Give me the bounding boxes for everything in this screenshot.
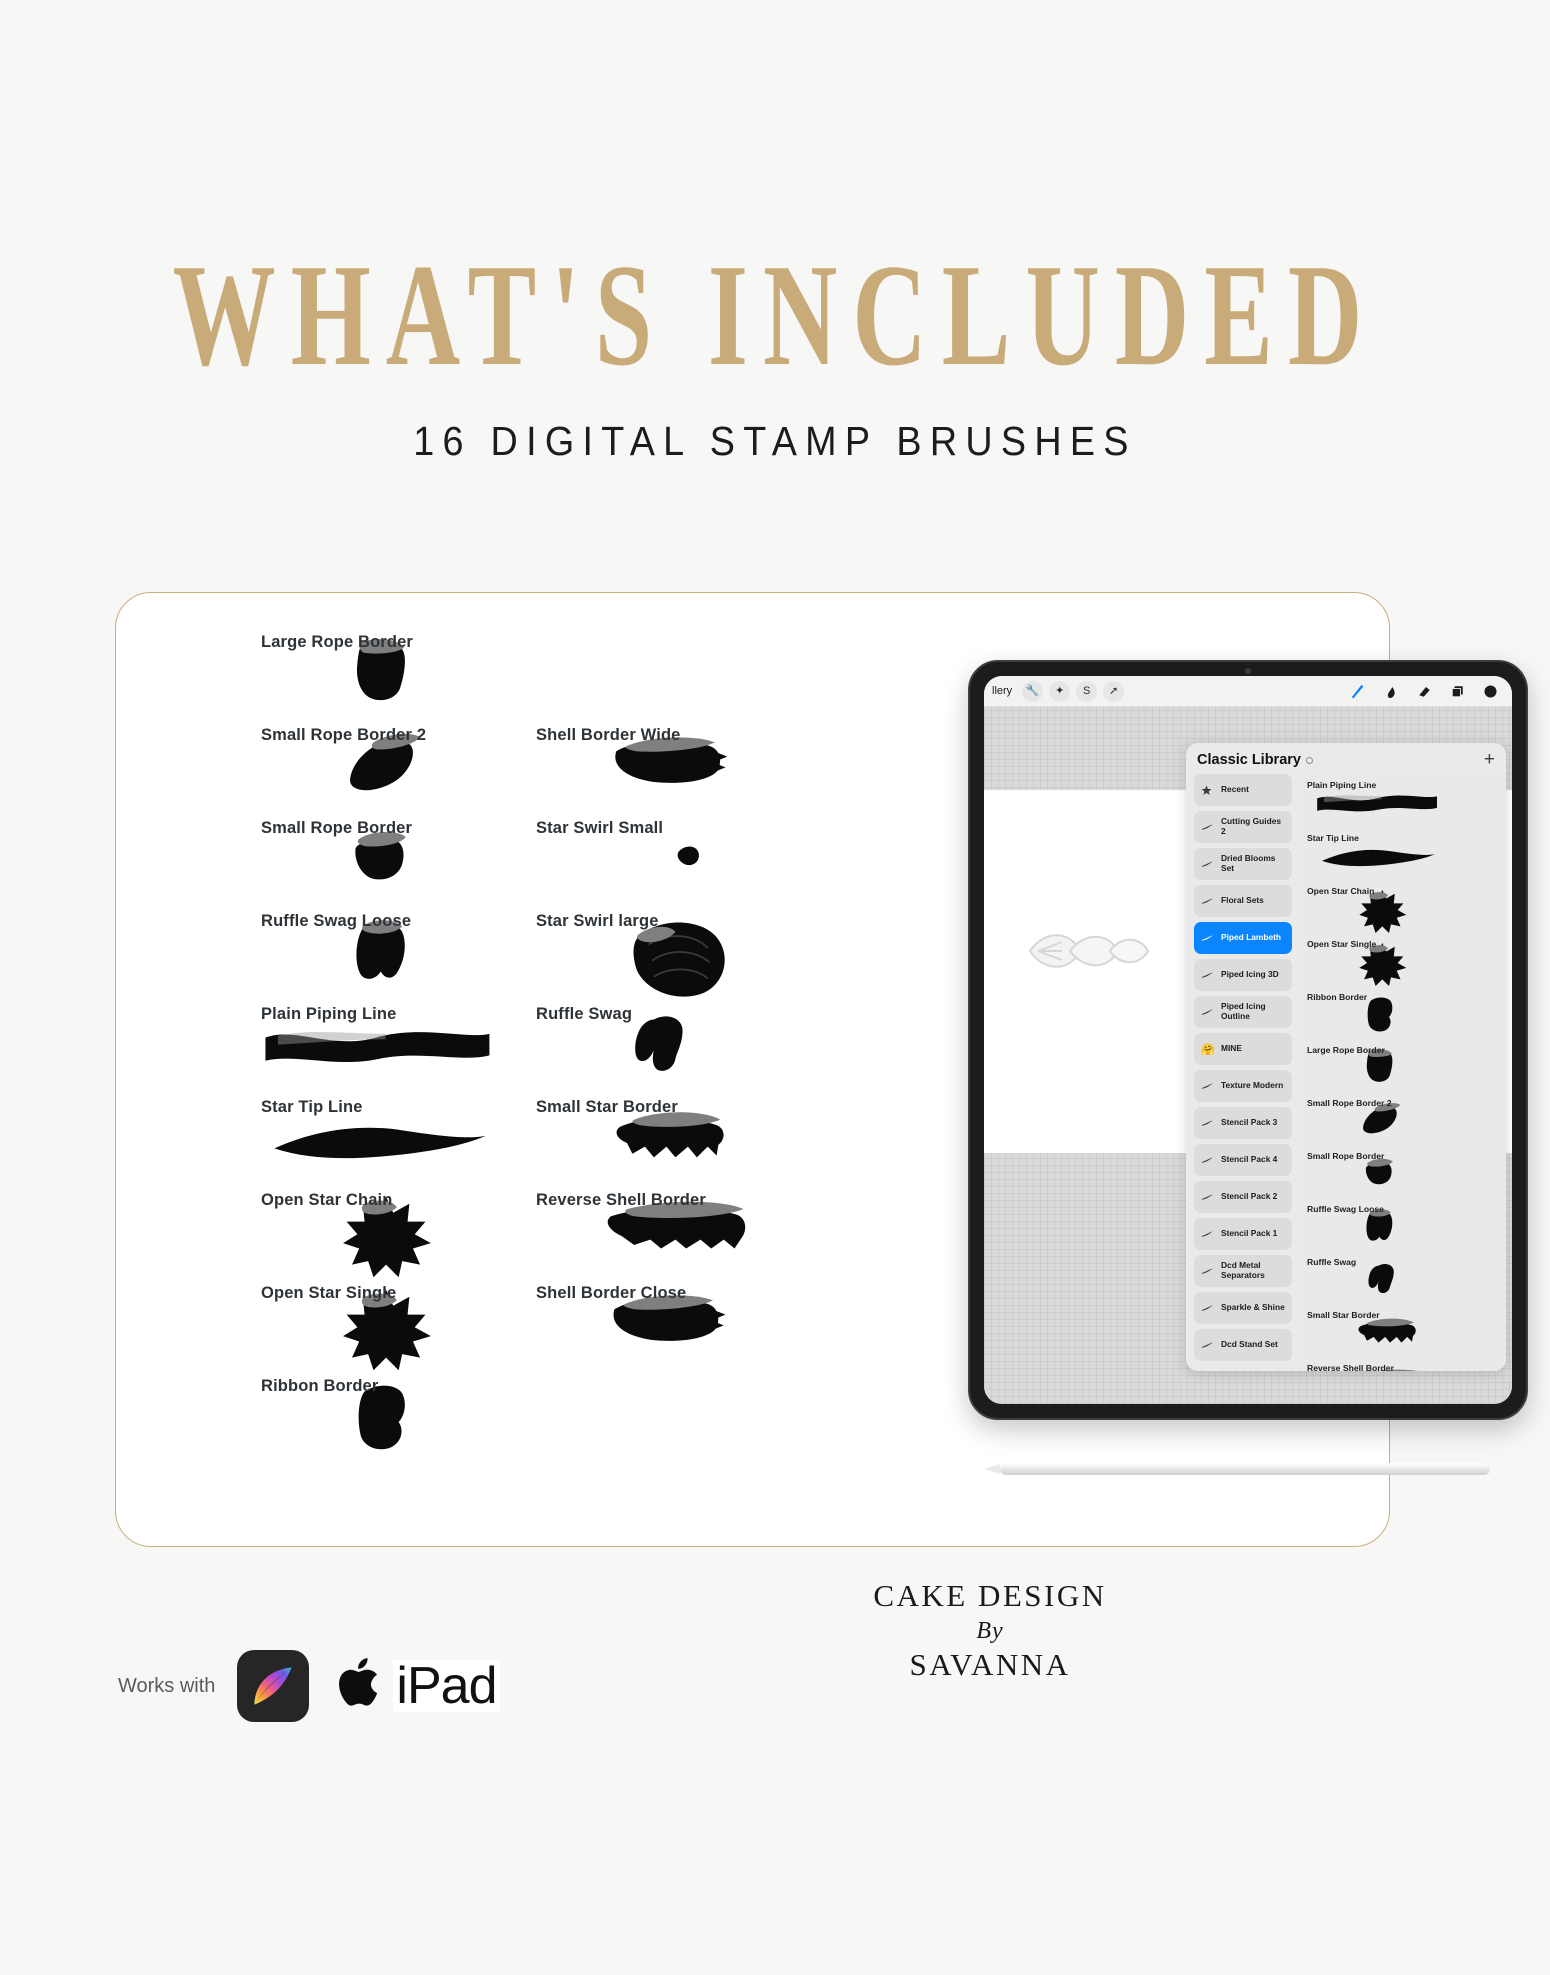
brush-list-label: Small Rope Border 2 bbox=[1307, 1098, 1392, 1108]
brush-showcase-label: Star Tip Line bbox=[261, 1098, 363, 1117]
brush-set-label: Piped Icing 3D bbox=[1221, 970, 1279, 980]
brush-set-label: Cutting Guides 2 bbox=[1221, 817, 1285, 837]
page-subtitle: 16 DIGITAL STAMP BRUSHES bbox=[62, 418, 1488, 465]
brush-list-item[interactable]: Star Tip Line bbox=[1304, 831, 1498, 884]
apple-ipad-group: iPad bbox=[331, 1651, 499, 1722]
color-swatch-icon[interactable] bbox=[1480, 681, 1500, 701]
canvas-brush-stroke bbox=[1022, 922, 1152, 980]
brush-list-item[interactable]: Small Star Border bbox=[1304, 1308, 1498, 1361]
brush-set-item[interactable]: Stencil Pack 3 bbox=[1194, 1107, 1292, 1139]
layers-icon[interactable] bbox=[1447, 681, 1467, 701]
brush-list-item[interactable]: Open Star Chain bbox=[1304, 884, 1498, 937]
brush-set-label: Piped Lambeth bbox=[1221, 933, 1281, 943]
brush-set-label: Dried Blooms Set bbox=[1221, 854, 1285, 874]
transform-arrow-icon[interactable]: ➚ bbox=[1103, 681, 1124, 702]
brush-set-item[interactable]: Dcd Metal Separators bbox=[1194, 1255, 1292, 1287]
works-with-group: Works with bbox=[118, 1650, 500, 1722]
brush-set-label: MINE bbox=[1221, 1044, 1242, 1054]
brush-set-item[interactable]: Sparkle & Shine bbox=[1194, 1292, 1292, 1324]
stroke-icon bbox=[1201, 1341, 1215, 1349]
brush-set-label: Floral Sets bbox=[1221, 896, 1264, 906]
magic-wand-icon[interactable]: ✦ bbox=[1049, 681, 1070, 702]
brush-showcase-label: Shell Border Wide bbox=[536, 726, 681, 745]
poster-page: WHAT'S INCLUDED 16 DIGITAL STAMP BRUSHES… bbox=[0, 0, 1550, 1975]
brush-showcase-item: Star Swirl large bbox=[536, 912, 866, 1005]
brush-list-label: Ruffle Swag bbox=[1307, 1257, 1356, 1267]
brush-showcase-label: Ribbon Border bbox=[261, 1377, 378, 1396]
brush-list-label: Reverse Shell Border bbox=[1307, 1363, 1394, 1371]
brush-set-item[interactable]: Piped Icing 3D bbox=[1194, 959, 1292, 991]
brand-logo: CAKE DESIGN By SAVANNA bbox=[810, 1578, 1170, 1683]
procreate-icon bbox=[237, 1650, 309, 1722]
stroke-icon bbox=[1201, 1230, 1215, 1238]
brush-set-item[interactable]: Piped Icing Outline bbox=[1194, 996, 1292, 1028]
stroke-icon bbox=[1201, 1267, 1215, 1275]
brush-showcase-label: Small Rope Border 2 bbox=[261, 726, 426, 745]
brush-set-label: Texture Modern bbox=[1221, 1081, 1283, 1091]
brush-showcase-item: Ribbon Border bbox=[261, 1377, 591, 1470]
stroke-icon bbox=[1201, 897, 1215, 905]
selection-s-icon[interactable]: S bbox=[1076, 681, 1097, 702]
brush-list-item[interactable]: Ribbon Border bbox=[1304, 990, 1498, 1043]
ipad-wordmark: iPad bbox=[393, 1660, 499, 1712]
brush-library-header: Classic Library + bbox=[1186, 743, 1506, 774]
brush-showcase-item: Reverse Shell Border bbox=[536, 1191, 866, 1284]
brush-list-label: Star Tip Line bbox=[1307, 833, 1359, 843]
brush-showcase-label: Plain Piping Line bbox=[261, 1005, 396, 1024]
brush-set-label: Stencil Pack 1 bbox=[1221, 1229, 1277, 1239]
brush-set-item[interactable]: Cutting Guides 2 bbox=[1194, 811, 1292, 843]
brush-list-label: Open Star Chain bbox=[1307, 886, 1374, 896]
stroke-icon bbox=[1201, 860, 1215, 868]
procreate-canvas[interactable]: Classic Library + RecentCutting Guides 2… bbox=[984, 707, 1512, 1404]
brush-set-label: Stencil Pack 2 bbox=[1221, 1192, 1277, 1202]
brush-showcase-item: Star Swirl Small bbox=[536, 819, 866, 912]
stroke-icon bbox=[1201, 823, 1215, 831]
ipad-screen: llery 🔧 ✦ S ➚ bbox=[984, 676, 1512, 1404]
brush-list-item[interactable]: Open Star Single bbox=[1304, 937, 1498, 990]
brush-column-right: Shell Border WideStar Swirl SmallStar Sw… bbox=[536, 726, 866, 1377]
ipad-camera-icon bbox=[1245, 668, 1251, 674]
stroke-icon bbox=[1201, 1082, 1215, 1090]
brush-showcase-label: Star Swirl large bbox=[536, 912, 659, 931]
brush-list-item[interactable]: Plain Piping Line bbox=[1304, 778, 1498, 831]
wrench-icon[interactable]: 🔧 bbox=[1022, 681, 1043, 702]
brush-list-item[interactable]: Reverse Shell Border bbox=[1304, 1361, 1498, 1371]
brush-set-label: Dcd Stand Set bbox=[1221, 1340, 1278, 1350]
brush-set-item[interactable]: Floral Sets bbox=[1194, 885, 1292, 917]
brush-set-item[interactable]: Stencil Pack 2 bbox=[1194, 1181, 1292, 1213]
brush-showcase-item: Small Star Border bbox=[536, 1098, 866, 1191]
brush-list-label: Small Star Border bbox=[1307, 1310, 1380, 1320]
brush-showcase-label: Large Rope Border bbox=[261, 633, 413, 652]
brush-showcase-label: Ruffle Swag Loose bbox=[261, 912, 411, 931]
works-with-label: Works with bbox=[118, 1675, 215, 1698]
brush-library-body: RecentCutting Guides 2Dried Blooms SetFl… bbox=[1186, 774, 1506, 1371]
brush-list-label: Plain Piping Line bbox=[1307, 780, 1376, 790]
eraser-icon[interactable] bbox=[1414, 681, 1434, 701]
brush-library-panel[interactable]: Classic Library + RecentCutting Guides 2… bbox=[1186, 743, 1506, 1371]
emoji-hug-icon: 🤗 bbox=[1201, 1043, 1215, 1056]
add-brush-set-button[interactable]: + bbox=[1484, 753, 1495, 767]
brush-set-label: Sparkle & Shine bbox=[1221, 1303, 1285, 1313]
brush-list-item[interactable]: Small Rope Border bbox=[1304, 1149, 1498, 1202]
info-dot-icon bbox=[1306, 757, 1313, 764]
brush-set-item[interactable]: Dcd Stand Set bbox=[1194, 1329, 1292, 1361]
brush-set-list[interactable]: RecentCutting Guides 2Dried Blooms SetFl… bbox=[1186, 774, 1298, 1371]
brush-set-item[interactable]: 🤗MINE bbox=[1194, 1033, 1292, 1065]
brush-set-item[interactable]: Stencil Pack 1 bbox=[1194, 1218, 1292, 1250]
brush-list-label: Open Star Single bbox=[1307, 939, 1376, 949]
stroke-icon bbox=[1201, 1304, 1215, 1312]
brush-set-label: Dcd Metal Separators bbox=[1221, 1261, 1285, 1281]
brush-set-item[interactable]: Piped Lambeth bbox=[1194, 922, 1292, 954]
brush-list[interactable]: Plain Piping LineStar Tip LineOpen Star … bbox=[1298, 774, 1506, 1371]
paintbrush-icon[interactable] bbox=[1348, 681, 1368, 701]
brush-showcase-label: Small Star Border bbox=[536, 1098, 678, 1117]
brush-showcase-item: Shell Border Close bbox=[536, 1284, 866, 1377]
apple-pencil bbox=[1000, 1463, 1490, 1475]
brush-set-label: Stencil Pack 3 bbox=[1221, 1118, 1277, 1128]
brush-list-label: Large Rope Border bbox=[1307, 1045, 1385, 1055]
brush-showcase-label: Shell Border Close bbox=[536, 1284, 686, 1303]
stroke-icon bbox=[1201, 971, 1215, 979]
brush-showcase-item: Shell Border Wide bbox=[536, 726, 866, 819]
star-icon bbox=[1201, 785, 1215, 796]
brush-set-label: Piped Icing Outline bbox=[1221, 1002, 1285, 1022]
brush-set-item[interactable]: Stencil Pack 4 bbox=[1194, 1144, 1292, 1176]
brand-line-1: CAKE DESIGN bbox=[810, 1578, 1170, 1614]
brush-set-item[interactable]: Texture Modern bbox=[1194, 1070, 1292, 1102]
brush-set-item[interactable]: Recent bbox=[1194, 774, 1292, 806]
brush-showcase-item: Ruffle Swag bbox=[536, 1005, 866, 1098]
brush-list-item[interactable]: Ruffle Swag Loose bbox=[1304, 1202, 1498, 1255]
brush-list-label: Ruffle Swag Loose bbox=[1307, 1204, 1384, 1214]
ipad-device: llery 🔧 ✦ S ➚ bbox=[968, 660, 1528, 1420]
page-title: WHAT'S INCLUDED bbox=[0, 232, 1550, 400]
stroke-icon bbox=[1201, 1193, 1215, 1201]
brush-list-item[interactable]: Small Rope Border 2 bbox=[1304, 1096, 1498, 1149]
brush-set-item[interactable]: Dried Blooms Set bbox=[1194, 848, 1292, 880]
brush-showcase-label: Small Rope Border bbox=[261, 819, 412, 838]
brush-showcase-label: Reverse Shell Border bbox=[536, 1191, 706, 1210]
stroke-icon bbox=[1201, 1119, 1215, 1127]
smudge-icon[interactable] bbox=[1381, 681, 1401, 701]
brand-line-2: By bbox=[810, 1618, 1170, 1645]
brush-set-label: Stencil Pack 4 bbox=[1221, 1155, 1277, 1165]
brush-showcase-item: Large Rope Border bbox=[261, 633, 591, 726]
brush-list-label: Small Rope Border bbox=[1307, 1151, 1384, 1161]
brush-list-item[interactable]: Large Rope Border bbox=[1304, 1043, 1498, 1096]
stroke-icon bbox=[1201, 934, 1215, 942]
brush-showcase-label: Ruffle Swag bbox=[536, 1005, 632, 1024]
stroke-icon bbox=[1201, 1008, 1215, 1016]
brush-list-label: Ribbon Border bbox=[1307, 992, 1367, 1002]
brush-list-item[interactable]: Ruffle Swag bbox=[1304, 1255, 1498, 1308]
apple-logo-icon bbox=[331, 1651, 389, 1722]
procreate-toolbar: llery 🔧 ✦ S ➚ bbox=[984, 676, 1512, 707]
brush-library-title: Classic Library bbox=[1197, 752, 1301, 768]
brand-line-3: SAVANNA bbox=[810, 1647, 1170, 1683]
brush-showcase-label: Star Swirl Small bbox=[536, 819, 663, 838]
stroke-icon bbox=[1201, 1156, 1215, 1164]
brush-showcase-label: Open Star Chain bbox=[261, 1191, 393, 1210]
gallery-button[interactable]: llery bbox=[992, 685, 1012, 697]
brush-set-label: Recent bbox=[1221, 785, 1249, 795]
brush-showcase-label: Open Star Single bbox=[261, 1284, 396, 1303]
